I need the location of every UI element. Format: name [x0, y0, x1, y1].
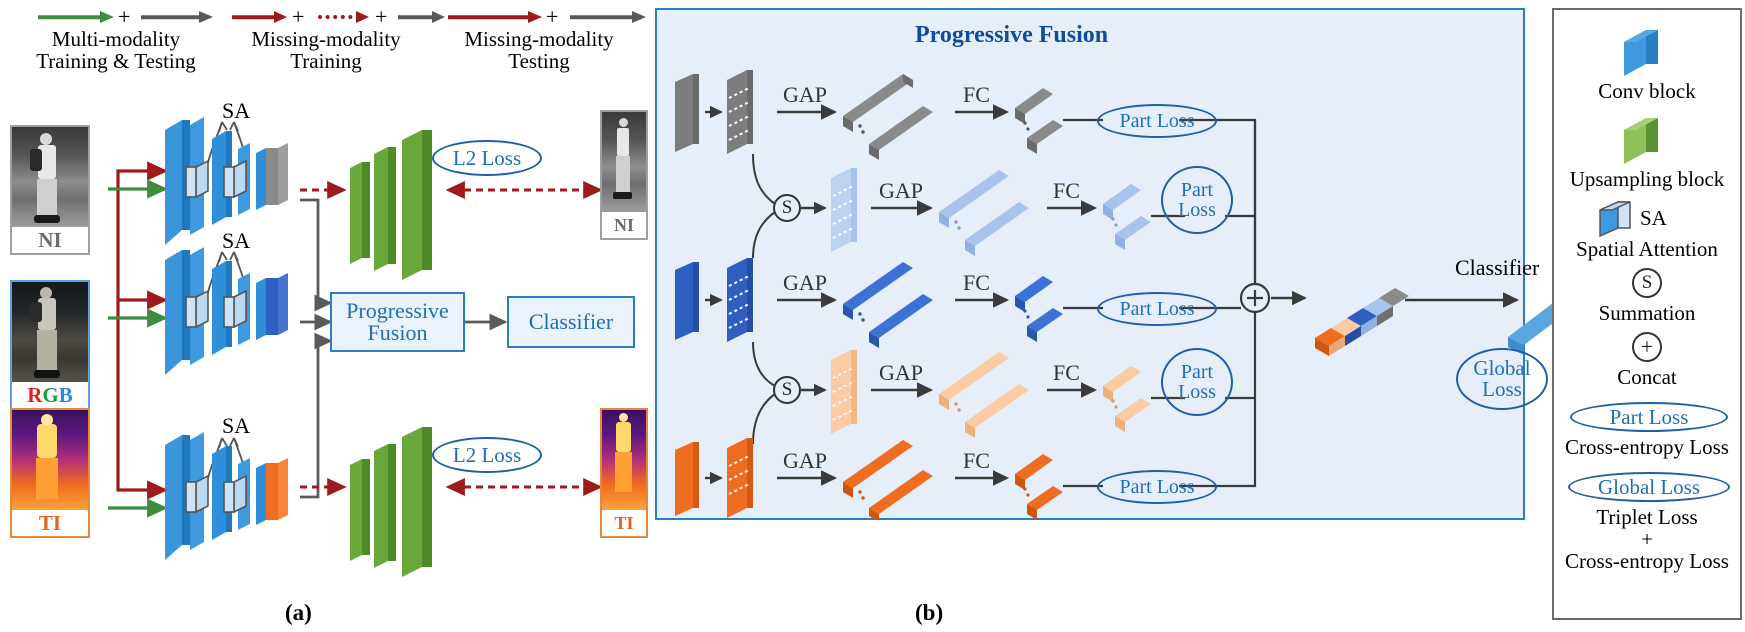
input-label-ti: TI — [12, 510, 88, 536]
input-thumbnail-ti: TI — [10, 408, 90, 538]
ni-image — [12, 127, 88, 227]
upsampling-block-icon — [1616, 112, 1676, 164]
legend-text-concat: Concat — [1554, 366, 1740, 388]
global-loss-label: Global Loss — [1473, 358, 1530, 400]
part-loss-label: Part Loss — [1120, 299, 1195, 319]
l2-loss-ellipse-top: L2 Loss — [432, 140, 542, 176]
fc-label-row-rgb-ti: FC — [1053, 360, 1080, 386]
gap-label-row-ni-rgb: GAP — [879, 178, 923, 204]
part-loss-ellipse-icon: Part Loss — [1570, 402, 1728, 432]
recon-label-ti: TI — [602, 510, 646, 536]
legend-inline-sa: SA — [1640, 206, 1667, 231]
panel-b-tag: (b) — [915, 600, 943, 626]
global-loss-ellipse-icon: Global Loss — [1568, 472, 1730, 502]
recon-target-ni: NI — [600, 110, 648, 240]
progressive-fusion-label: Progressive Fusion — [346, 300, 449, 345]
progressive-fusion-content: GAP FC GAP FC GAP FC GAP FC GAP FC S S P… — [655, 8, 1525, 520]
legend-text-upsampling-block: Upsampling block — [1554, 168, 1740, 190]
right-legend-panel: Conv block Upsampling block SA Spatial A… — [1552, 8, 1742, 620]
sa-label-stream-ti: SA — [222, 413, 250, 439]
ti-image — [12, 410, 88, 510]
concat-node-group — [1241, 120, 1517, 478]
panel-a: NI RGB TI — [0, 0, 650, 632]
rgb-letter-b: B — [59, 383, 73, 407]
concat-symbol: + — [1641, 334, 1653, 360]
concat-icon: + — [1632, 332, 1662, 362]
part-loss-label: Part Loss — [1120, 477, 1195, 497]
progressive-fusion-box[interactable]: Progressive Fusion — [330, 292, 465, 352]
legend-ellipse-part-loss: Part Loss — [1610, 407, 1689, 428]
legend-row-spatial-attention: SA — [1594, 198, 1706, 238]
summation-symbol: S — [782, 379, 793, 401]
summation-icon: S — [1632, 268, 1662, 298]
spatial-attention-icon — [1594, 198, 1636, 238]
rgb-letter-g: G — [42, 383, 58, 407]
sa-label-stream-rgb: SA — [222, 228, 250, 254]
panel-a-tag: (a) — [285, 600, 312, 626]
gap-label-row-rgb-ti: GAP — [879, 360, 923, 386]
input-label-rgb: RGB — [12, 382, 88, 408]
l2-loss-ellipse-bottom: L2 Loss — [432, 437, 542, 473]
legend-text-global-loss: Triplet Loss + Cross-entropy Loss — [1554, 506, 1740, 572]
summation-icon-rgb-ti: S — [773, 376, 801, 404]
recon-label-ni: NI — [602, 212, 646, 238]
decoder-upsampling-ti — [344, 415, 464, 580]
legend-text-part-loss: Cross-entropy Loss — [1554, 436, 1740, 458]
l2-loss-label: L2 Loss — [453, 148, 521, 169]
encoder-stream-rgb — [160, 235, 310, 395]
part-loss-ellipse-row-rgb-ti: Part Loss — [1161, 348, 1233, 416]
part-loss-label: Part Loss — [1178, 362, 1216, 402]
summation-icon-ni-rgb: S — [773, 194, 801, 222]
sa-label-stream-ni: SA — [222, 98, 250, 124]
global-loss-ellipse: Global Loss — [1456, 348, 1548, 410]
l2-loss-label: L2 Loss — [453, 445, 521, 466]
classifier-label: Classifier — [529, 311, 613, 333]
summation-symbol: S — [1642, 272, 1653, 294]
fc-label-row-ni-rgb: FC — [1053, 178, 1080, 204]
recon-target-ti: TI — [600, 408, 648, 538]
encoder-stream-ti — [160, 420, 310, 580]
legend-text-conv-block: Conv block — [1554, 80, 1740, 102]
part-loss-ellipse-row-rgb: Part Loss — [1097, 292, 1217, 326]
ti-recon-image — [602, 410, 646, 510]
part-loss-label: Part Loss — [1120, 111, 1195, 131]
gap-label-row-ni: GAP — [783, 82, 827, 108]
input-thumbnail-rgb: RGB — [10, 280, 90, 410]
part-loss-ellipse-row-ti: Part Loss — [1097, 470, 1217, 504]
gap-label-row-rgb: GAP — [783, 270, 827, 296]
fc-label-row-ni: FC — [963, 82, 990, 108]
classifier-box[interactable]: Classifier — [507, 296, 635, 348]
part-loss-ellipse-row-ni-rgb: Part Loss — [1161, 166, 1233, 234]
summation-symbol: S — [782, 197, 793, 219]
rgb-image — [12, 282, 88, 382]
fc-label-row-rgb: FC — [963, 270, 990, 296]
part-loss-ellipse-row-ni: Part Loss — [1097, 104, 1217, 138]
legend-text-spatial-attention: Spatial Attention — [1554, 238, 1740, 260]
legend-text-summation: Summation — [1554, 302, 1740, 324]
fc-label-row-ti: FC — [963, 448, 990, 474]
decoder-upsampling-ni — [344, 118, 464, 283]
conv-block-icon — [1616, 24, 1676, 76]
input-thumbnail-ni: NI — [10, 125, 90, 255]
input-label-ni: NI — [12, 227, 88, 253]
rgb-letter-r: R — [27, 383, 42, 407]
part-loss-label: Part Loss — [1178, 180, 1216, 220]
gap-label-row-ti: GAP — [783, 448, 827, 474]
legend-ellipse-global-loss: Global Loss — [1598, 477, 1700, 498]
ni-recon-image — [602, 112, 646, 212]
